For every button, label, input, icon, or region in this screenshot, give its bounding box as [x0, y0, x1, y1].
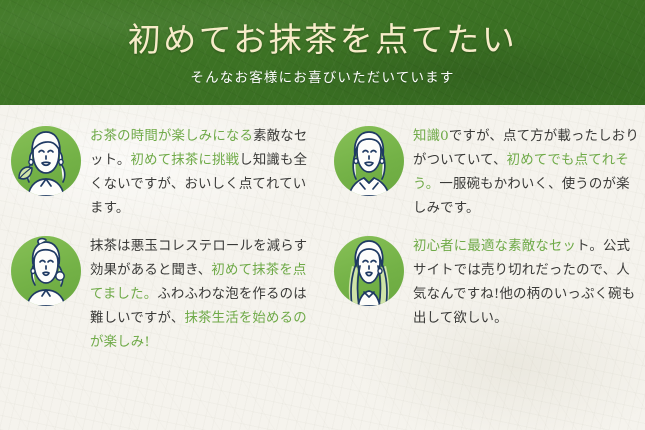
testimonial-text: 初心者に最適な素敵なセット。公式サイトでは売り切れだったので、人気なんですね!他…	[413, 234, 639, 330]
page-subtitle: そんなお客様にお喜びいただいています	[190, 66, 454, 86]
avatar-woman-long-wavy-icon	[334, 236, 404, 306]
testimonial-segment: 初めて抹茶に挑戦	[131, 153, 240, 168]
avatar-woman-braid-icon	[11, 126, 81, 196]
testimonial-card: 知識0ですが、点て方が載ったしおりがついていて、初めてでも点てれそう。一服碗もか…	[334, 124, 639, 220]
testimonial-segment: 知識0	[413, 129, 449, 144]
testimonial-segment: お茶の時間が楽しみになる	[90, 129, 253, 144]
page-title: 初めてお抹茶を点てたい	[128, 19, 518, 60]
avatar-woman-bob-icon	[334, 126, 404, 196]
testimonial-text: 知識0ですが、点て方が載ったしおりがついていて、初めてでも点てれそう。一服碗もか…	[413, 124, 639, 220]
testimonial-text: 抹茶は悪玉コレステロールを減らす効果があると聞き、初めて抹茶を点てました。ふわふ…	[90, 234, 316, 354]
testimonial-card: 初心者に最適な素敵なセット。公式サイトでは売り切れだったので、人気なんですね!他…	[334, 234, 639, 354]
testimonial-segment: 初心者に最適な素敵なセッ	[413, 239, 576, 254]
testimonial-card: お茶の時間が楽しみになる素敵なセット。初めて抹茶に挑戦し知識も全くないですが、お…	[11, 124, 316, 220]
testimonial-text: お茶の時間が楽しみになる素敵なセット。初めて抹茶に挑戦し知識も全くないですが、お…	[90, 124, 316, 220]
testimonials-section: お茶の時間が楽しみになる素敵なセット。初めて抹茶に挑戦し知識も全くないですが、お…	[0, 105, 645, 430]
testimonial-card: 抹茶は悪玉コレステロールを減らす効果があると聞き、初めて抹茶を点てました。ふわふ…	[11, 234, 316, 354]
page-header: 初めてお抹茶を点てたい そんなお客様にお喜びいただいています	[0, 0, 645, 105]
testimonials-grid: お茶の時間が楽しみになる素敵なセット。初めて抹茶に挑戦し知識も全くないですが、お…	[0, 105, 645, 355]
testimonial-segment: 一服碗もかわいく、使うのが楽しみです。	[413, 177, 630, 216]
avatar-woman-bun-icon	[11, 236, 81, 306]
